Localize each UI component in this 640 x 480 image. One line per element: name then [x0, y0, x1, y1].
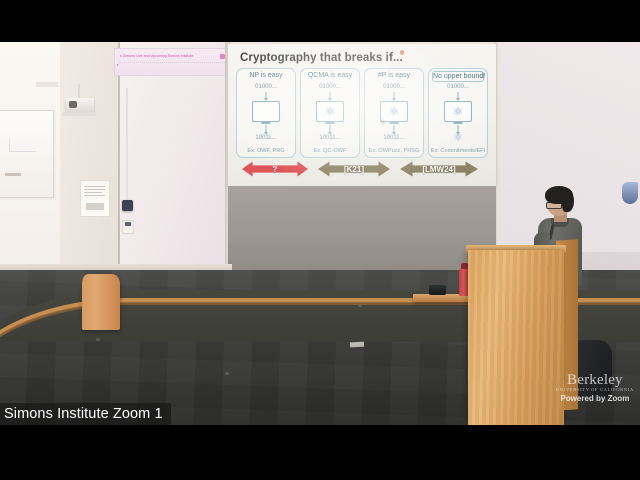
whiteboard-tray — [5, 173, 21, 176]
banner-divider — [119, 61, 225, 63]
participant-name-label: Simons Institute Zoom 1 — [0, 403, 171, 427]
shelf-object — [429, 285, 446, 295]
card-heading: QCMA is easy — [301, 72, 359, 79]
camera-bracket — [62, 112, 96, 116]
small-atom-icon: ⚛ — [379, 118, 386, 127]
quantum-computer-icon: ⚛ — [444, 101, 472, 122]
letterbox-bottom — [0, 425, 640, 480]
slide-card: NP is easy 01000... 10011... Ex: OWF, PR… — [236, 68, 296, 158]
output-atom-icon: ⚛ — [453, 131, 463, 144]
slide-arrow-row: ? [K21] [LMW24] — [242, 160, 488, 180]
card-output-bits: 10011... — [301, 135, 359, 141]
relation-arrow: [LMW24] — [400, 160, 478, 178]
card-output-bits: 10011... — [237, 135, 295, 141]
banner-bullet-icon: ▸ — [117, 62, 119, 67]
card-output-bits: 10011... — [365, 135, 423, 141]
card-heading: NP is easy — [237, 72, 295, 79]
fire-alarm-icon — [122, 200, 133, 211]
relation-arrow: ? — [242, 160, 308, 178]
zoom-video-feed: # Simons Live and Upcoming Simons Instit… — [0, 42, 640, 425]
camera-lens-icon — [69, 101, 77, 108]
card-input-bits: 01000... — [429, 84, 487, 90]
security-camera-icon — [66, 98, 94, 113]
slide-card: No upper bound! 01000... ⚛ ⚛ Ex: Commitm… — [428, 68, 488, 158]
banner-text: # Simons Live and Upcoming Simons Instit… — [120, 54, 193, 58]
card-input-bits: 01000... — [237, 84, 295, 90]
projection-screen: Cryptography that breaks if... NP is eas… — [228, 44, 496, 186]
computer-icon — [252, 101, 280, 122]
stage-column — [82, 274, 120, 330]
floor-vent-icon — [225, 372, 229, 375]
wall-middle-pillar — [118, 42, 230, 277]
ceiling-strip — [36, 82, 58, 87]
relation-arrow: [K21] — [318, 160, 390, 178]
arrow-label: [K21] — [344, 165, 364, 174]
arrow-label: [LMW24] — [422, 165, 455, 174]
wall-object — [622, 182, 638, 204]
card-input-bits: 01000... — [301, 84, 359, 90]
slide-card-row: NP is easy 01000... 10011... Ex: OWF, PR… — [236, 68, 488, 158]
slide-card: QCMA is easy 01000... ⚛ 10011... Ex: QC-… — [300, 68, 360, 158]
wall-outlet-icon — [122, 220, 134, 234]
floor-paper — [350, 342, 364, 348]
secondary-projection-banner: # Simons Live and Upcoming Simons Instit… — [114, 48, 230, 76]
video-frame-container: # Simons Live and Upcoming Simons Instit… — [0, 0, 640, 480]
wall-conduit — [126, 88, 128, 204]
whiteboard — [0, 110, 54, 198]
pillar-edge-left — [118, 42, 120, 274]
floor-vent-icon — [358, 304, 362, 307]
card-heading: No upper bound! — [432, 71, 484, 82]
backpack — [572, 340, 612, 398]
card-example: Ex: OWPuzz, PRSG — [365, 148, 423, 154]
slide-title: Cryptography that breaks if... — [240, 52, 403, 64]
letterbox-top — [0, 0, 640, 42]
card-example: Ex: QC-OWF — [301, 148, 359, 154]
slide-title-marker-icon — [400, 50, 404, 55]
atom-icon: ⚛ — [388, 105, 401, 118]
slide-card: #P is easy 01000... ⚛ ⚛ 10011... Ex: OWP… — [364, 68, 424, 158]
card-heading: #P is easy — [365, 72, 423, 79]
arrow-label: ? — [273, 165, 278, 174]
card-input-bits: 01000... — [365, 84, 423, 90]
floor-vent-icon — [96, 338, 100, 341]
whiteboard-scribble — [9, 139, 36, 152]
speaker-hair-back — [562, 190, 574, 212]
podium — [468, 250, 564, 425]
atom-icon: ⚛ — [452, 105, 465, 118]
card-example: Ex: Commitments/EFI — [429, 148, 487, 154]
card-example: Ex: OWF, PRG — [237, 148, 295, 154]
screen-lower-wall-panel — [228, 186, 496, 274]
atom-icon: ⚛ — [324, 105, 337, 118]
water-bottle-cap — [461, 263, 468, 269]
wall-sign — [80, 180, 110, 217]
quantum-computer-icon: ⚛ — [316, 101, 344, 122]
wall-sign-block — [86, 203, 104, 210]
